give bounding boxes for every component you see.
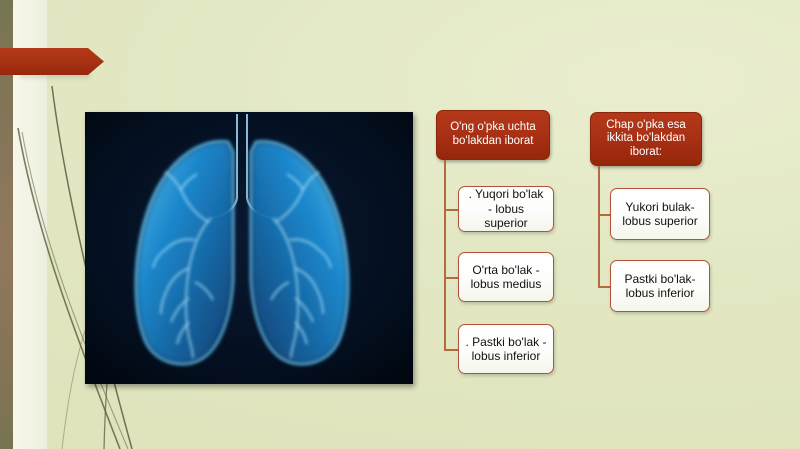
connector-trunk-left-lung bbox=[598, 166, 600, 287]
lungs-illustration bbox=[85, 112, 413, 384]
diagram-header-left-lung[interactable]: Chap o'pka esa ikkita bo'lakdan iborat: bbox=[590, 112, 702, 166]
diagram-item-right-lobe-medius[interactable]: O'rta bo'lak - lobus medius bbox=[458, 252, 554, 302]
connector-trunk-right-lung bbox=[444, 160, 446, 350]
diagram-item-right-lobe-inferior[interactable]: . Pastki bo'lak - lobus inferior bbox=[458, 324, 554, 374]
diagram-item-left-lobe-inferior[interactable]: Pastki bo'lak- lobus inferior bbox=[610, 260, 710, 312]
diagram-item-left-lobe-superior[interactable]: Yukori bulak- lobus superior bbox=[610, 188, 710, 240]
lungs-image bbox=[85, 112, 413, 384]
chevron-banner bbox=[0, 48, 104, 75]
diagram-header-right-lung[interactable]: O'ng o'pka uchta bo'lakdan iborat bbox=[436, 110, 550, 160]
diagram-item-right-lobe-superior[interactable]: . Yuqori bo'lak - lobus superior bbox=[458, 186, 554, 232]
slide-canvas: O'ng o'pka uchta bo'lakdan iborat . Yuqo… bbox=[0, 0, 800, 449]
